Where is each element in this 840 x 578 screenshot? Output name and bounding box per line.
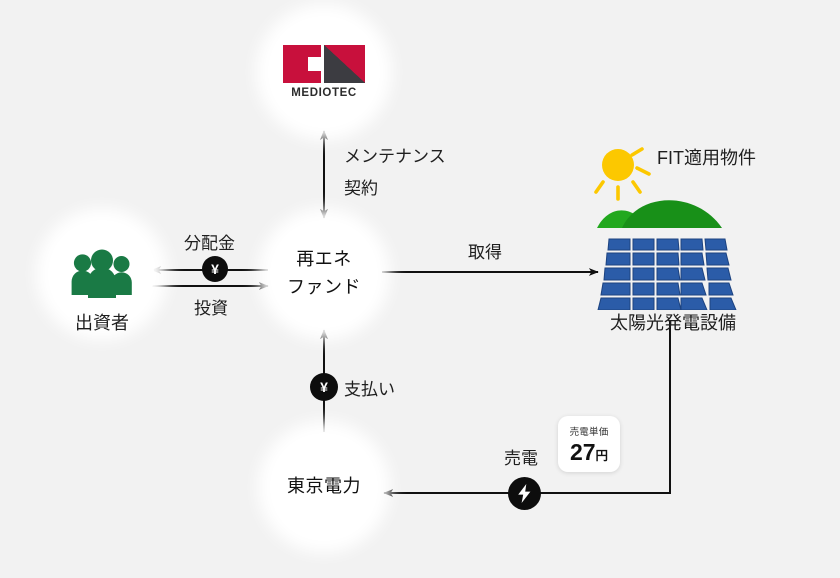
fund-label-line1: 再エネ xyxy=(296,246,352,274)
unit-price-card: 売電単価 27円 xyxy=(558,416,620,472)
edge-label-maintenance-2: 契約 xyxy=(344,176,378,202)
unit-price-unit: 円 xyxy=(596,449,609,463)
mediotec-logo-mark xyxy=(283,45,365,83)
yen-badge-distribution: ¥ xyxy=(202,256,228,282)
investor-label: 出資者 xyxy=(50,310,154,336)
people-group-icon xyxy=(69,248,135,300)
node-tepco[interactable]: 東京電力 xyxy=(272,435,376,539)
tepco-label: 東京電力 xyxy=(287,473,361,501)
fund-label-line2: ファンド xyxy=(287,274,361,302)
mediotec-mark-right xyxy=(324,45,365,83)
unit-price-value: 27円 xyxy=(570,441,608,464)
edge-label-distribution: 分配金 xyxy=(184,231,235,257)
scheme-diagram: MEDIOTEC 再エネ ファンド 出資者 東京電力 xyxy=(0,0,840,578)
mediotec-wordmark: MEDIOTEC xyxy=(291,87,357,99)
unit-price-number: 27 xyxy=(570,439,596,465)
edge-label-acquire: 取得 xyxy=(468,240,502,266)
mediotec-logo: MEDIOTEC xyxy=(280,45,368,99)
solar-plant-label: 太陽光発電設備 xyxy=(580,310,766,336)
hill-right xyxy=(622,200,722,228)
sun-icon xyxy=(596,149,649,199)
edge-label-payment: 支払い xyxy=(344,377,395,403)
edge-label-investment: 投資 xyxy=(194,296,228,322)
node-renewable-fund[interactable]: 再エネ ファンド xyxy=(272,222,376,326)
yen-symbol: ¥ xyxy=(211,261,219,277)
panel-array xyxy=(598,239,736,310)
edge-label-power-sale: 売電 xyxy=(504,446,538,472)
unit-price-title: 売電単価 xyxy=(570,424,609,438)
bolt-badge-power-sale xyxy=(508,477,541,510)
bolt-icon xyxy=(517,484,532,503)
node-mediotec[interactable]: MEDIOTEC xyxy=(270,18,378,126)
yen-symbol: ¥ xyxy=(320,379,328,395)
yen-badge-payment: ¥ xyxy=(310,373,338,401)
fit-badge-label: FIT適用物件 xyxy=(657,145,756,171)
edge-label-maintenance-1: メンテナンス xyxy=(344,144,446,170)
mediotec-mark-left xyxy=(283,45,321,83)
